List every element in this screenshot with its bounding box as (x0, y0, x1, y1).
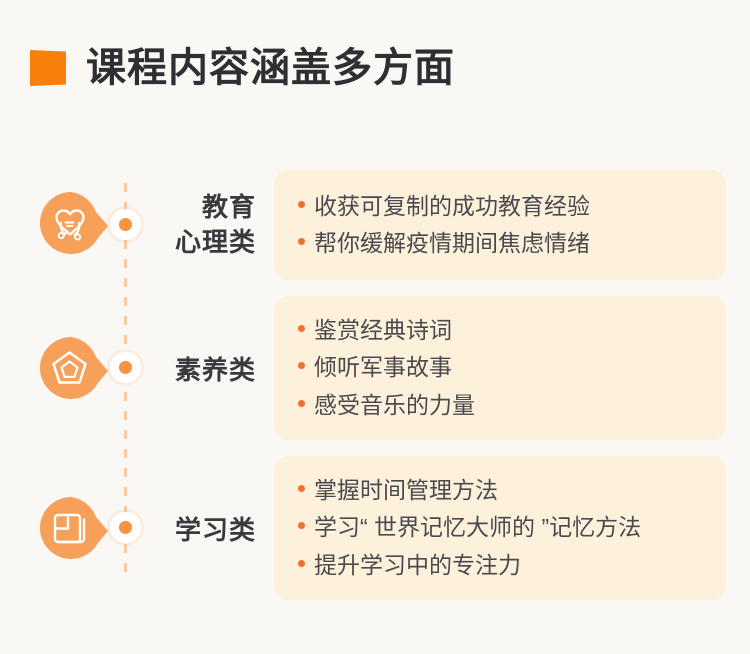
list-item-text: 学习“ 世界记忆大师的 ”记忆方法 (314, 509, 641, 546)
section-label-literacy: 素养类 (140, 353, 256, 388)
page-title-row: 课程内容涵盖多方面 (30, 38, 455, 98)
timeline-node-dot-2 (119, 361, 132, 374)
list-item: 帮你缓解疫情期间焦虑情绪 (298, 225, 726, 262)
bullet-dot-icon (298, 201, 305, 208)
section-label-line: 心理类 (140, 225, 256, 260)
bullet-dot-icon (298, 400, 305, 407)
bullet-dot-icon (298, 485, 305, 492)
list-item-text: 倾听军事故事 (314, 349, 452, 386)
section-label-line: 教育 (140, 190, 256, 225)
list-item-text: 感受音乐的力量 (314, 387, 475, 424)
list-item-text: 掌握时间管理方法 (314, 472, 498, 509)
list-item: 倾听军事故事 (298, 349, 726, 386)
timeline-node-2 (110, 352, 141, 383)
list-item-text: 鉴赏经典诗词 (314, 312, 452, 349)
section-icon-education (38, 190, 110, 256)
bullet-dot-icon (298, 560, 305, 567)
timeline-node-dot-3 (119, 521, 132, 534)
section-card-education: 收获可复制的成功教育经验 帮你缓解疫情期间焦虑情绪 (274, 170, 726, 280)
page-title: 课程内容涵盖多方面 (86, 48, 455, 88)
heart-stethoscope-icon (38, 190, 110, 256)
section-label-study: 学习类 (140, 513, 256, 548)
bullet-dot-icon (298, 362, 305, 369)
list-item-text: 提升学习中的专注力 (314, 547, 521, 584)
list-item-text: 收获可复制的成功教育经验 (314, 188, 590, 225)
bullet-dot-icon (298, 325, 305, 332)
section-card-study: 掌握时间管理方法 学习“ 世界记忆大师的 ”记忆方法 提升学习中的专注力 (274, 456, 726, 600)
section-label-line: 学习类 (140, 513, 256, 548)
list-item: 掌握时间管理方法 (298, 472, 726, 509)
section-label-education: 教育 心理类 (140, 190, 256, 260)
bullet-dot-icon (298, 522, 305, 529)
section-icon-literacy (38, 335, 110, 401)
list-item: 提升学习中的专注力 (298, 547, 726, 584)
timeline-node-dot-1 (119, 218, 132, 231)
pentagon-house-icon (38, 335, 110, 401)
section-icon-study (38, 495, 110, 561)
section-card-literacy: 鉴赏经典诗词 倾听军事故事 感受音乐的力量 (274, 296, 726, 440)
book-icon (38, 495, 110, 561)
timeline-node-3 (110, 512, 141, 543)
list-item: 学习“ 世界记忆大师的 ”记忆方法 (298, 509, 726, 546)
list-item: 感受音乐的力量 (298, 387, 726, 424)
section-label-line: 素养类 (140, 353, 256, 388)
orange-flag-marker-icon (30, 50, 66, 86)
list-item-text: 帮你缓解疫情期间焦虑情绪 (314, 225, 590, 262)
bullet-dot-icon (298, 238, 305, 245)
list-item: 收获可复制的成功教育经验 (298, 188, 726, 225)
list-item: 鉴赏经典诗词 (298, 312, 726, 349)
timeline-node-1 (110, 209, 141, 240)
